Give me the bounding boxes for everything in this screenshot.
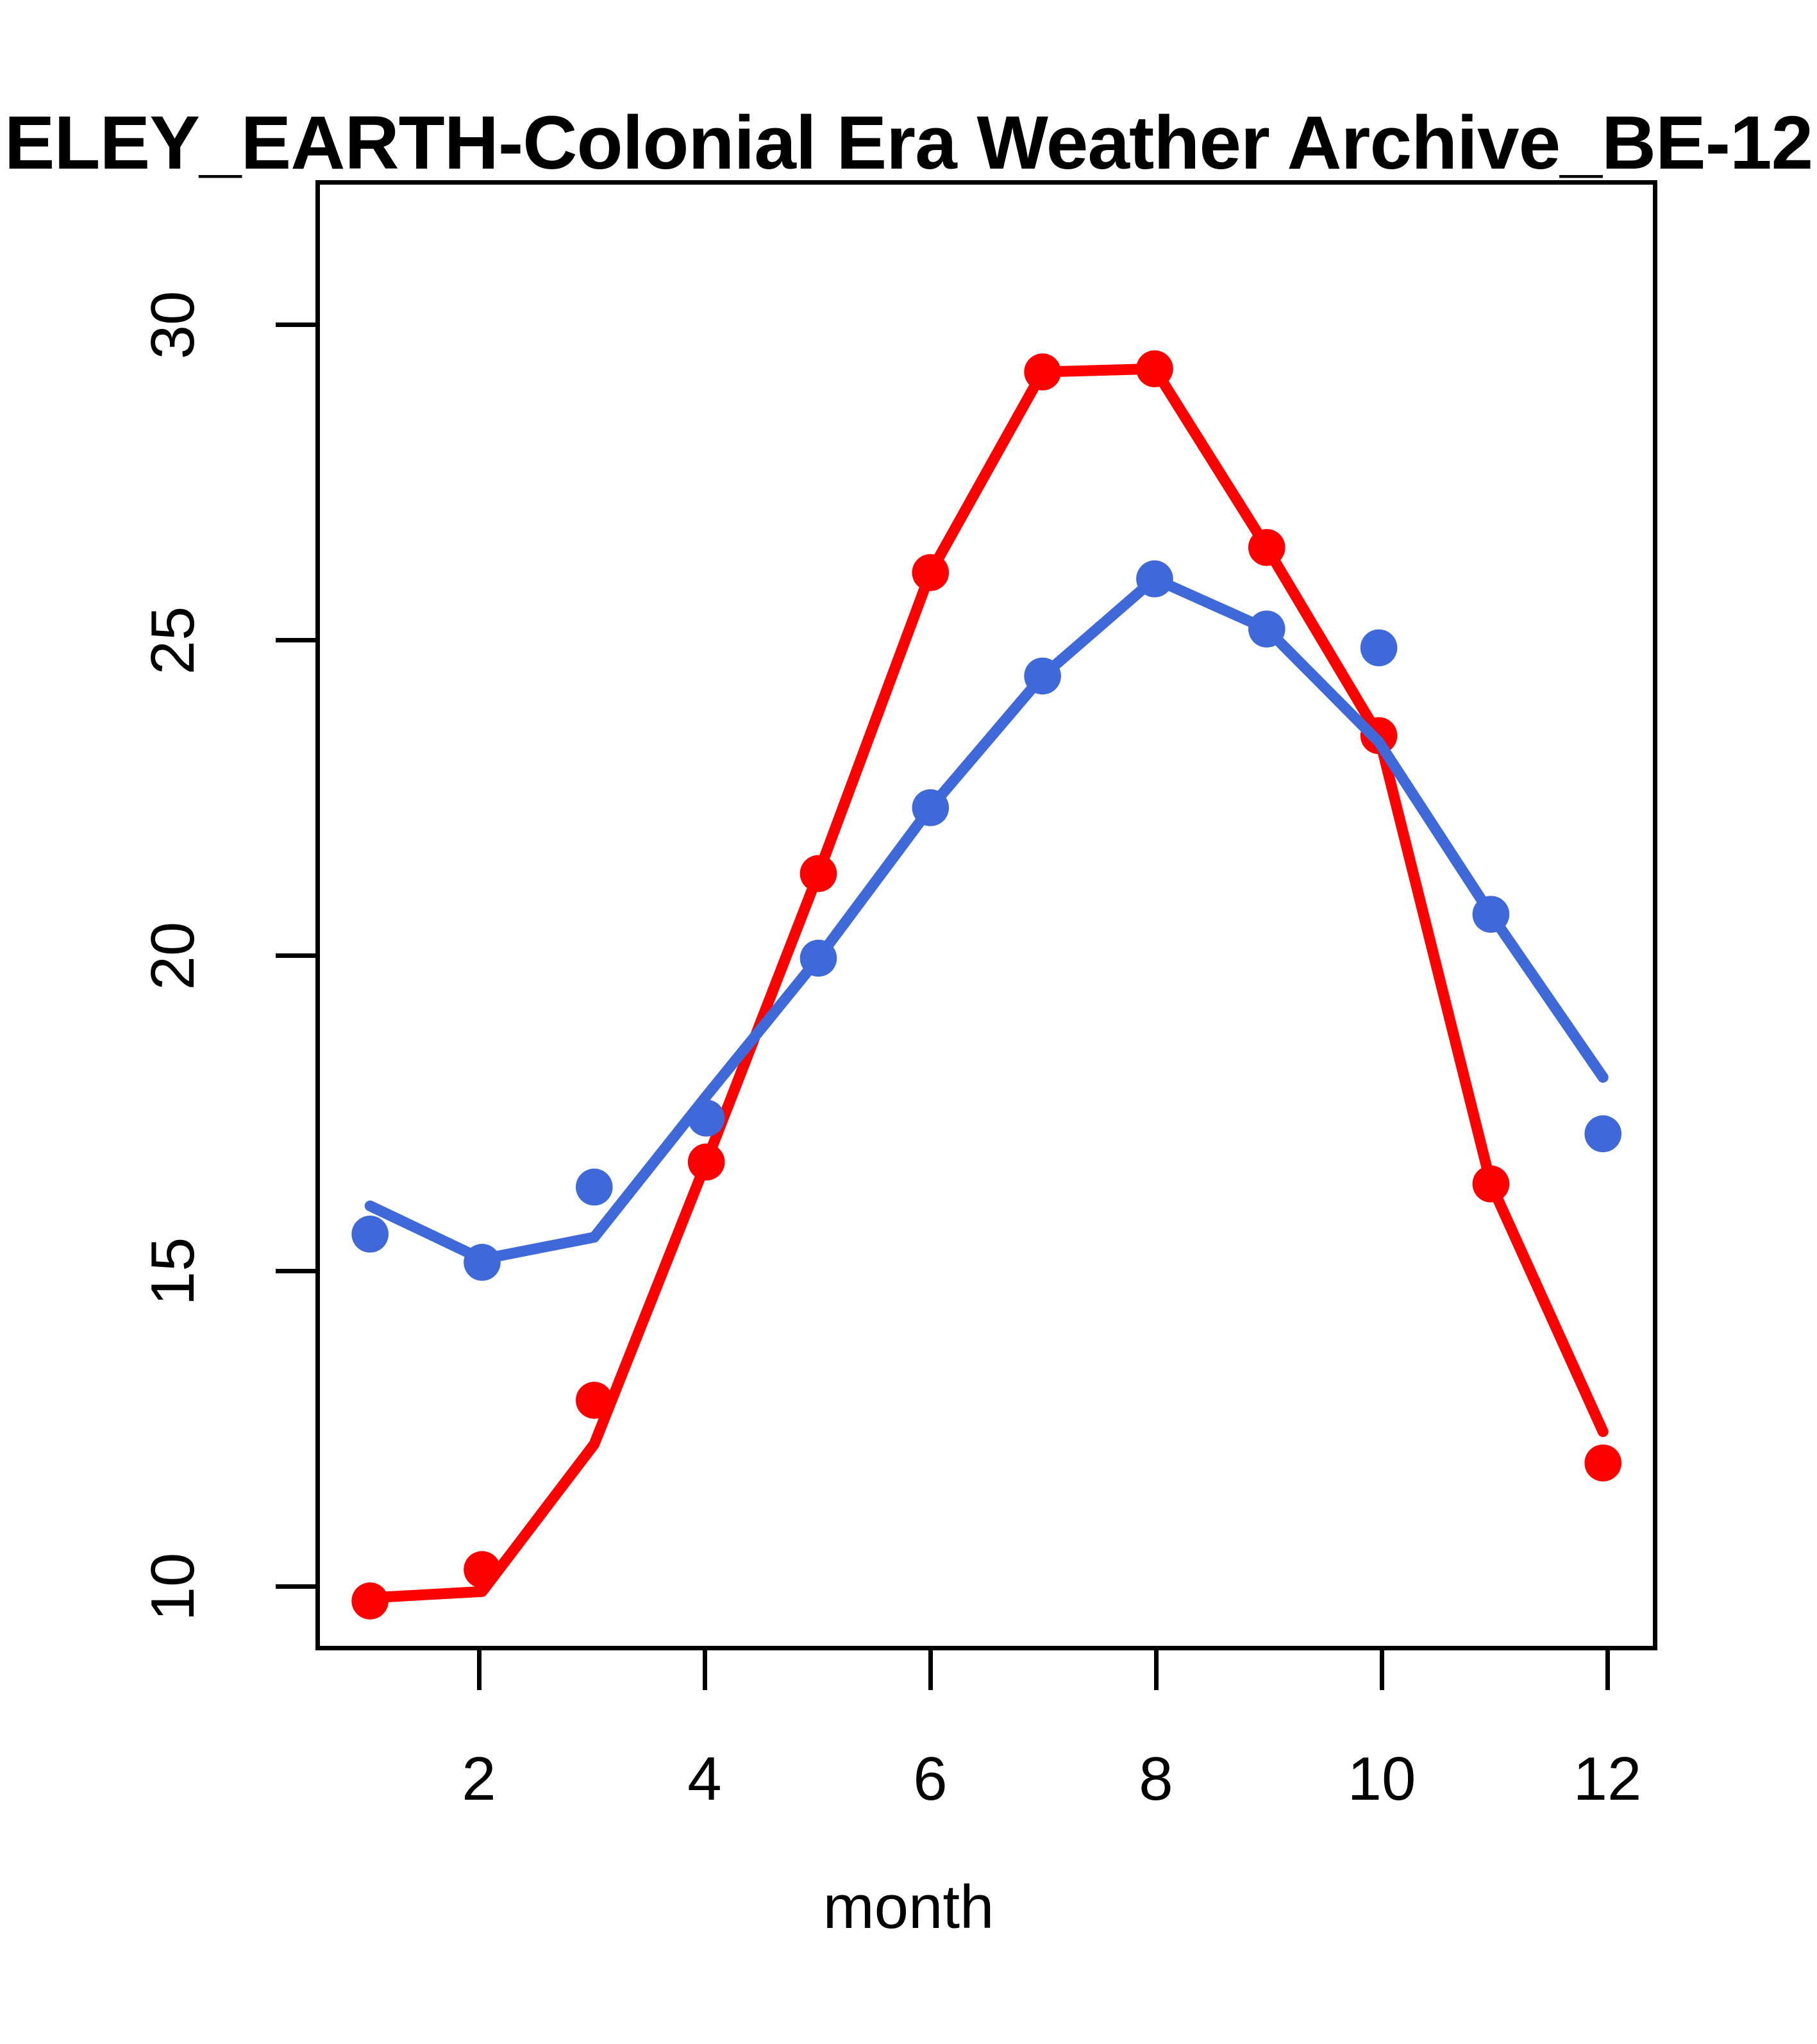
y-tick-25 bbox=[276, 638, 315, 642]
data-point-low-temperature-1 bbox=[351, 1216, 389, 1253]
data-point-low-temperature-11 bbox=[1473, 896, 1510, 933]
data-point-low-temperature-12 bbox=[1584, 1116, 1621, 1153]
y-tick-label-20: 20 bbox=[138, 885, 208, 1026]
data-point-high-temperature-3 bbox=[576, 1382, 613, 1419]
x-tick-label-6: 6 bbox=[860, 1744, 1001, 1814]
y-tick-10 bbox=[276, 1584, 315, 1589]
y-tick-label-15: 15 bbox=[138, 1201, 208, 1342]
x-tick-label-4: 4 bbox=[634, 1744, 775, 1814]
data-point-high-temperature-5 bbox=[800, 855, 837, 892]
data-point-high-temperature-7 bbox=[1024, 353, 1061, 390]
y-tick-label-25: 25 bbox=[138, 570, 208, 711]
data-point-high-temperature-11 bbox=[1473, 1166, 1510, 1203]
x-tick-8 bbox=[1154, 1650, 1159, 1690]
series-line-high-temperature bbox=[370, 369, 1603, 1598]
data-point-low-temperature-9 bbox=[1248, 610, 1285, 648]
x-tick-4 bbox=[703, 1650, 707, 1690]
y-tick-30 bbox=[276, 323, 315, 327]
series-canvas bbox=[320, 185, 1653, 1646]
x-tick-label-8: 8 bbox=[1085, 1744, 1227, 1814]
x-tick-6 bbox=[928, 1650, 933, 1690]
y-tick-label-30: 30 bbox=[138, 255, 208, 396]
data-point-high-temperature-12 bbox=[1584, 1445, 1621, 1482]
data-point-low-temperature-10 bbox=[1361, 630, 1398, 667]
x-tick-12 bbox=[1605, 1650, 1610, 1690]
x-axis-title: month bbox=[0, 1872, 1817, 1943]
data-point-low-temperature-6 bbox=[912, 789, 949, 826]
plot-area bbox=[315, 180, 1657, 1650]
x-tick-label-12: 12 bbox=[1537, 1744, 1678, 1814]
y-tick-label-10: 10 bbox=[138, 1516, 208, 1657]
data-point-low-temperature-5 bbox=[800, 940, 837, 977]
data-point-high-temperature-4 bbox=[688, 1144, 725, 1181]
data-point-high-temperature-1 bbox=[351, 1582, 389, 1620]
data-point-low-temperature-3 bbox=[576, 1169, 613, 1206]
data-point-low-temperature-2 bbox=[464, 1244, 501, 1281]
y-tick-20 bbox=[276, 953, 315, 958]
data-point-low-temperature-4 bbox=[688, 1100, 725, 1137]
data-point-low-temperature-8 bbox=[1136, 560, 1173, 598]
page-title: ELEY_EARTH-Colonial Era Weather Archive_… bbox=[0, 95, 1817, 191]
x-tick-2 bbox=[477, 1650, 481, 1690]
data-point-high-temperature-8 bbox=[1136, 350, 1173, 387]
x-tick-label-2: 2 bbox=[408, 1744, 549, 1814]
series-line-low-temperature bbox=[370, 579, 1603, 1259]
chart-page: ELEY_EARTH-Colonial Era Weather Archive_… bbox=[0, 0, 1817, 2044]
data-point-high-temperature-9 bbox=[1248, 529, 1285, 566]
x-tick-label-10: 10 bbox=[1311, 1744, 1452, 1814]
data-point-high-temperature-6 bbox=[912, 554, 949, 591]
data-point-high-temperature-2 bbox=[464, 1551, 501, 1588]
x-tick-10 bbox=[1380, 1650, 1384, 1690]
data-point-low-temperature-7 bbox=[1024, 658, 1061, 695]
y-tick-15 bbox=[276, 1269, 315, 1273]
